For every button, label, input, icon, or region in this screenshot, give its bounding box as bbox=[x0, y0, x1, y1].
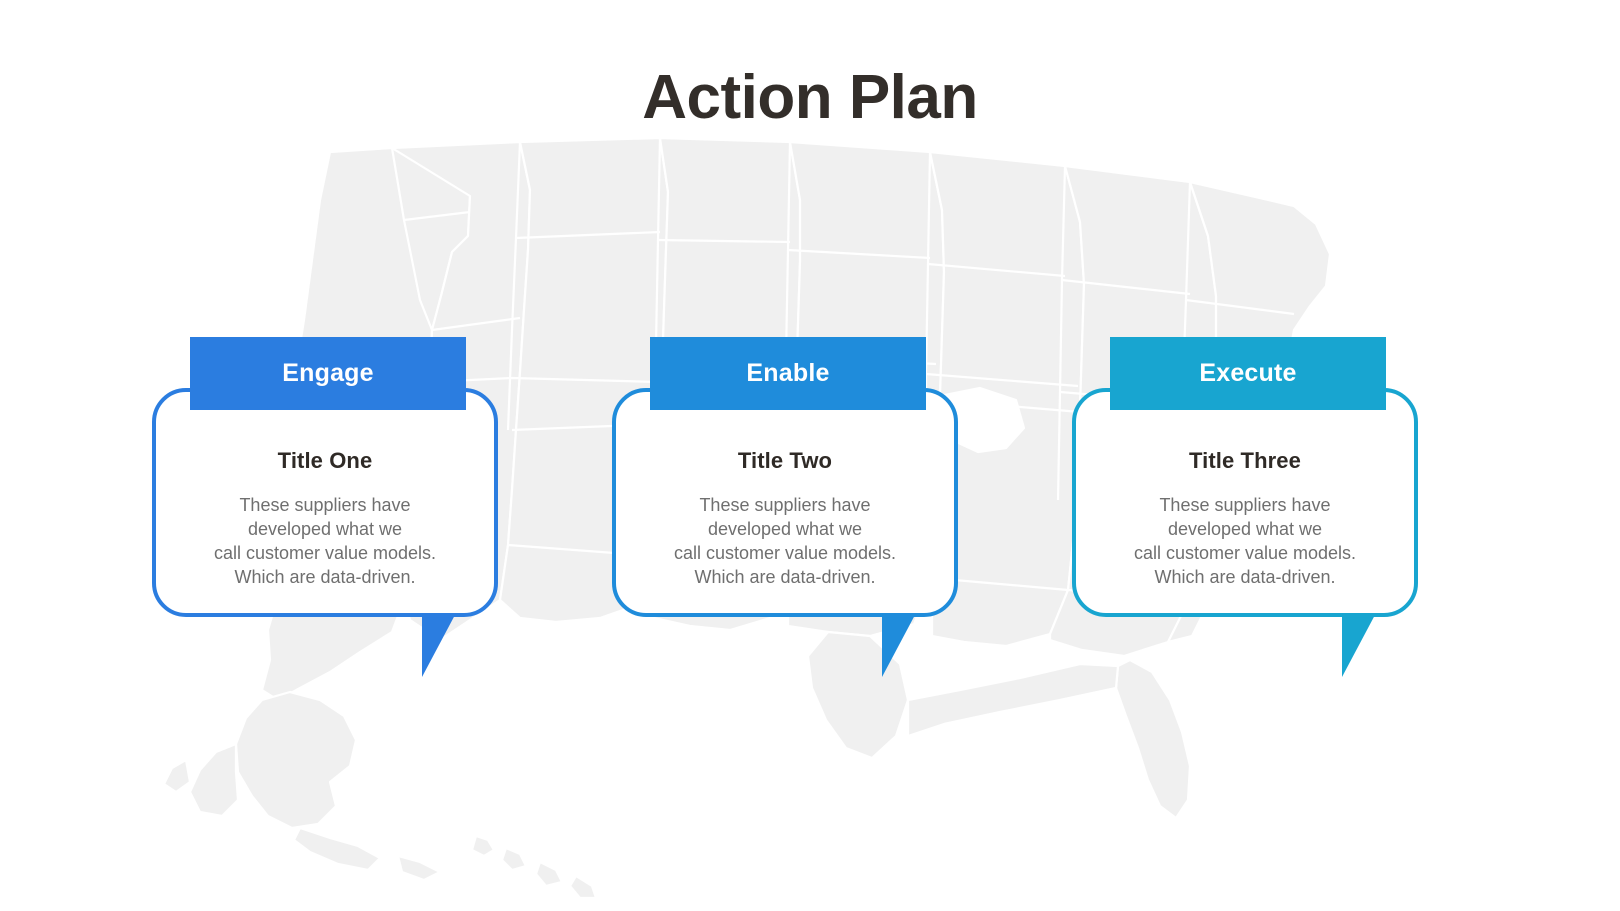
card-body-3: Title Three These suppliers have develop… bbox=[1072, 388, 1418, 617]
card-description-2: These suppliers have developed what we c… bbox=[620, 494, 950, 590]
page-title: Action Plan bbox=[0, 62, 1620, 133]
card-title-2: Title Two bbox=[738, 448, 832, 474]
card-header-banner-2[interactable]: Enable bbox=[650, 337, 926, 410]
card-header-label-2: Enable bbox=[746, 359, 829, 388]
card-description-3: These suppliers have developed what we c… bbox=[1080, 494, 1410, 590]
action-card-2[interactable]: Enable Title Two These suppliers have de… bbox=[608, 337, 958, 682]
card-title-1: Title One bbox=[278, 448, 373, 474]
speech-bubble-tail-3 bbox=[1342, 613, 1376, 677]
card-header-banner-1[interactable]: Engage bbox=[190, 337, 466, 410]
card-title-3: Title Three bbox=[1189, 448, 1301, 474]
slide-canvas: Action Plan Engage Title One These suppl… bbox=[0, 0, 1620, 911]
action-card-1[interactable]: Engage Title One These suppliers have de… bbox=[148, 337, 498, 682]
speech-bubble-tail-1 bbox=[422, 613, 456, 677]
card-header-label-1: Engage bbox=[282, 359, 374, 388]
card-header-banner-3[interactable]: Execute bbox=[1110, 337, 1386, 410]
action-card-3[interactable]: Execute Title Three These suppliers have… bbox=[1068, 337, 1418, 682]
card-header-label-3: Execute bbox=[1199, 359, 1296, 388]
speech-bubble-tail-2 bbox=[882, 613, 916, 677]
card-body-2: Title Two These suppliers have developed… bbox=[612, 388, 958, 617]
card-body-1: Title One These suppliers have developed… bbox=[152, 388, 498, 617]
card-description-1: These suppliers have developed what we c… bbox=[160, 494, 490, 590]
